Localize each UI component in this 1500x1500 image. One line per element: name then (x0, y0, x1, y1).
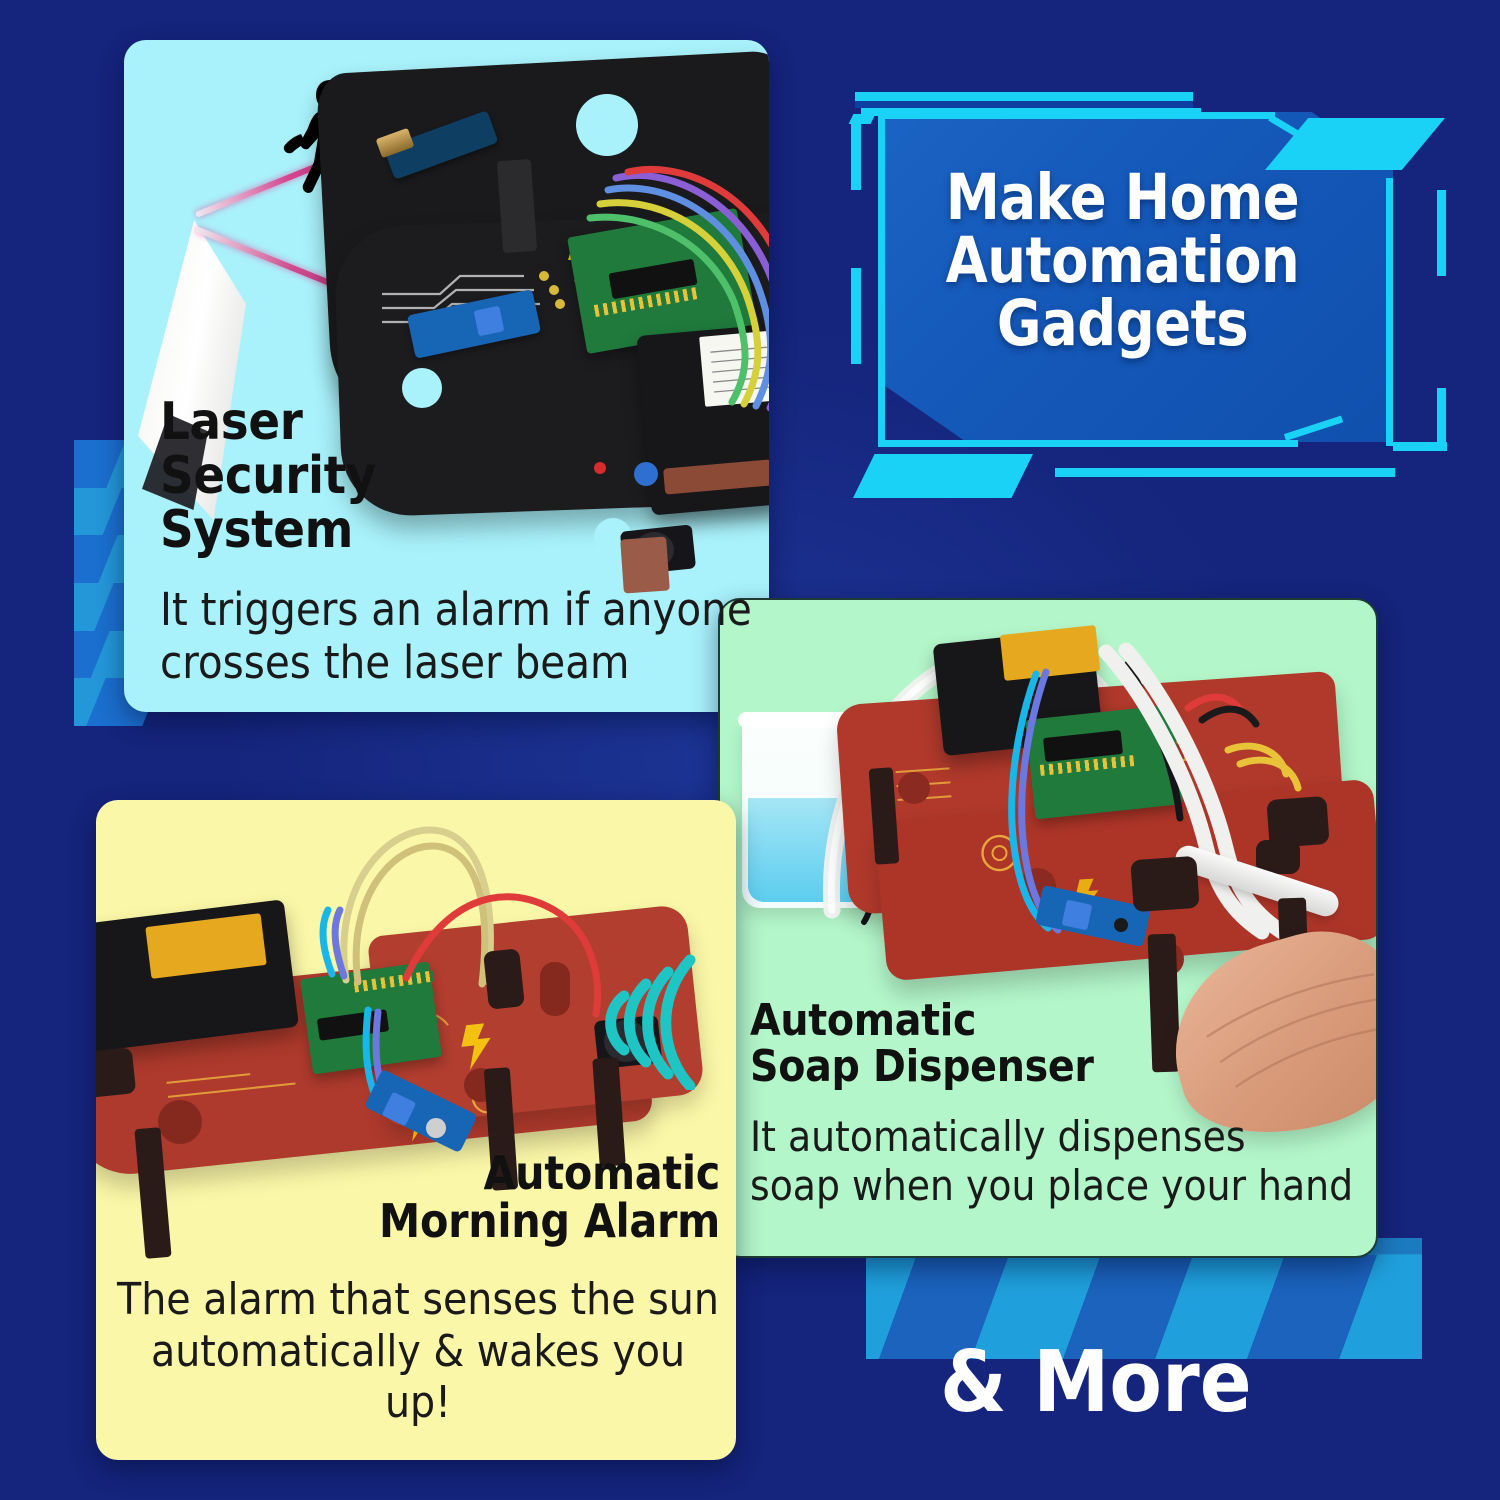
ir-sensor-trimpot-icon (1062, 900, 1093, 931)
laser-title-line-1: Laser (160, 392, 303, 452)
soap-card-title: Automatic Soap Dispenser (750, 998, 1370, 1090)
banner-plate-outline-bottom (878, 440, 1298, 447)
product-feature-poster: Make Home Automation Gadgets (0, 0, 1500, 1500)
alarm-desc-line-1: The alarm that senses the sun (117, 1274, 719, 1325)
banner-rail-top-outer-shadow (855, 101, 1193, 108)
board-hole (576, 94, 638, 156)
banner-bracket-right-lower-joint (1393, 442, 1447, 451)
standoff-clamp (96, 1047, 136, 1099)
laser-desc-line-2: crosses the laser beam (160, 636, 629, 689)
soap-card-description: It automatically dispenses soap when you… (750, 1112, 1370, 1211)
jumper-wires (504, 160, 769, 420)
banner-title: Make Home Automation Gadgets (856, 166, 1389, 355)
ir-sensor-led-icon (1114, 918, 1128, 932)
soap-title-line-2: Soap Dispenser (750, 1041, 1094, 1092)
alarm-desc-line-2: automatically & wakes you up! (151, 1326, 685, 1429)
soap-desc-line-1: It automatically dispenses (750, 1112, 1246, 1161)
banner-bracket-right-lower (1437, 388, 1446, 450)
banner-accent-bottom-left (853, 454, 1033, 498)
card-automatic-soap-dispenser[interactable]: Automatic Soap Dispenser It automaticall… (718, 598, 1378, 1258)
board-leg (497, 159, 537, 253)
alarm-title-line-1: Automatic (483, 1146, 720, 1200)
board-hole (158, 1100, 202, 1144)
laser-title-line-2: Security (160, 446, 376, 506)
banner-title-line-2: Automation (856, 229, 1389, 292)
soap-desc-line-2: soap when you place your hand (750, 1161, 1353, 1210)
banner-bracket-left-upper-joint (849, 114, 876, 124)
banner-rail-top-outer (855, 92, 1193, 101)
receiver-trimpot-icon (474, 306, 505, 337)
banner-rail-bottom-outer (1055, 468, 1395, 477)
banner-plate-outline-top (885, 112, 1275, 119)
laser-card-text: Laser Security System It triggers an ala… (160, 395, 760, 689)
tube-clamp (1130, 856, 1199, 912)
laser-card-title: Laser Security System (160, 395, 760, 557)
banner-bracket-right-upper (1437, 190, 1446, 276)
ldr-photoresistor-icon (426, 1118, 446, 1138)
alarm-card-description: The alarm that senses the sun automatica… (116, 1274, 720, 1430)
alarm-card-title: Automatic Morning Alarm (116, 1150, 720, 1246)
card-laser-security-system[interactable]: Laser Security System It triggers an ala… (124, 40, 769, 712)
card-automatic-morning-alarm[interactable]: Automatic Morning Alarm The alarm that s… (96, 800, 736, 1460)
laser-card-description: It triggers an alarm if anyone crosses t… (160, 583, 760, 689)
alarm-card-text: Automatic Morning Alarm The alarm that s… (116, 1150, 720, 1429)
alarm-title-line-2: Morning Alarm (379, 1194, 720, 1248)
banner-title-line-3: Gadgets (856, 292, 1389, 355)
jumper-wires (236, 814, 636, 1114)
standoff-clamp (483, 948, 525, 1009)
laser-desc-line-1: It triggers an alarm if anyone (160, 583, 752, 636)
soap-card-text: Automatic Soap Dispenser It automaticall… (750, 998, 1370, 1211)
soap-title-line-1: Automatic (750, 995, 976, 1046)
and-more-label: & More (940, 1340, 1360, 1425)
title-banner: Make Home Automation Gadgets (845, 70, 1460, 490)
tube-clamp (1266, 796, 1329, 848)
laser-title-line-3: System (160, 500, 353, 560)
